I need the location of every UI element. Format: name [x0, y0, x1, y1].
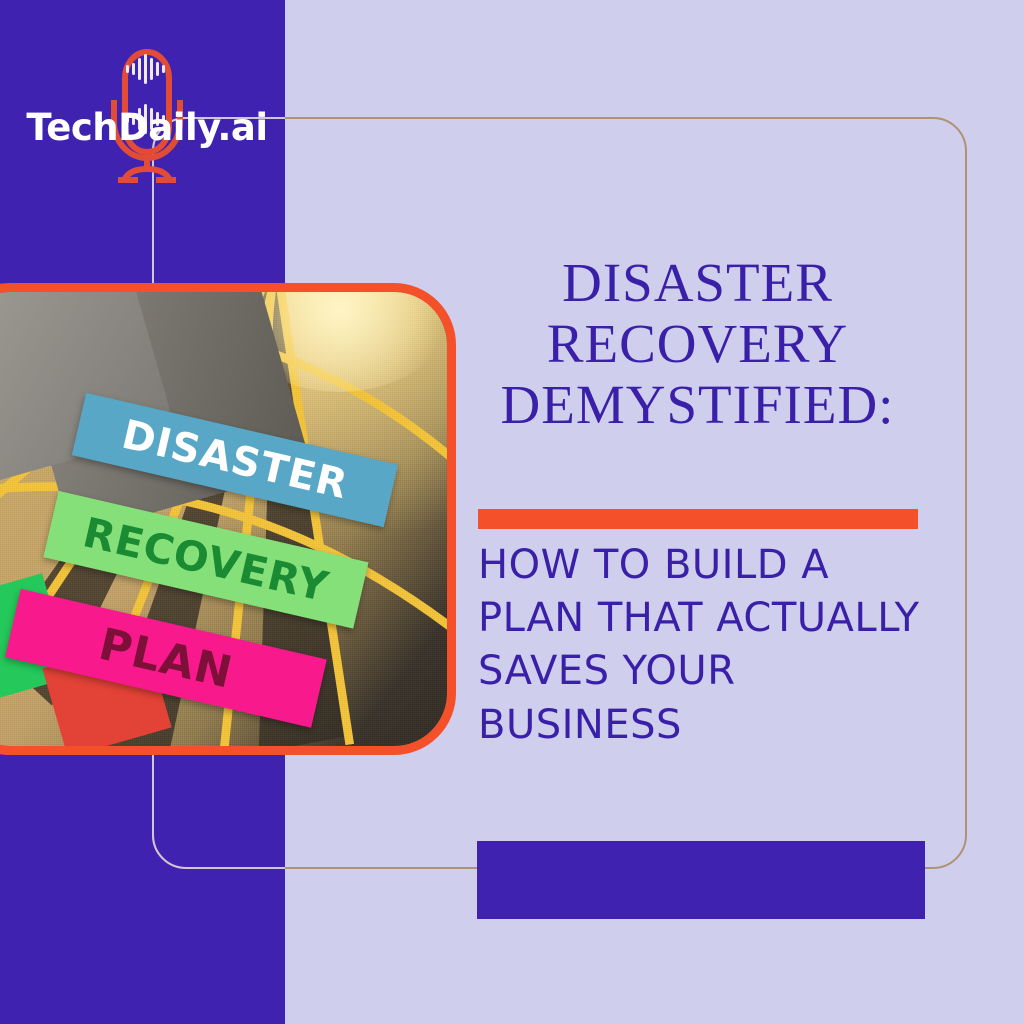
- article-photo-card[interactable]: DISASTER RECOVERY PLAN: [0, 283, 456, 755]
- footer-bar: [477, 841, 925, 919]
- page-title: DISASTER RECOVERY DEMYSTIFIED:: [470, 252, 925, 435]
- article-photo: DISASTER RECOVERY PLAN: [0, 292, 447, 746]
- social-post-canvas: TechDaily.ai: [0, 0, 1024, 1024]
- brand-logo[interactable]: TechDaily.ai: [22, 38, 272, 183]
- title-line-1: DISASTER: [470, 252, 925, 313]
- subtitle-line-2: PLAN THAT ACTUALLY: [478, 592, 928, 645]
- title-line-2: RECOVERY: [470, 313, 925, 374]
- subtitle-line-1: HOW TO BUILD A: [478, 539, 928, 592]
- subtitle-line-3: SAVES YOUR: [478, 645, 928, 698]
- brand-name: TechDaily.ai: [22, 109, 272, 146]
- accent-divider: [478, 509, 918, 529]
- title-line-3: DEMYSTIFIED:: [470, 374, 925, 435]
- subtitle-line-4: BUSINESS: [478, 699, 928, 752]
- page-subtitle: HOW TO BUILD A PLAN THAT ACTUALLY SAVES …: [478, 539, 928, 752]
